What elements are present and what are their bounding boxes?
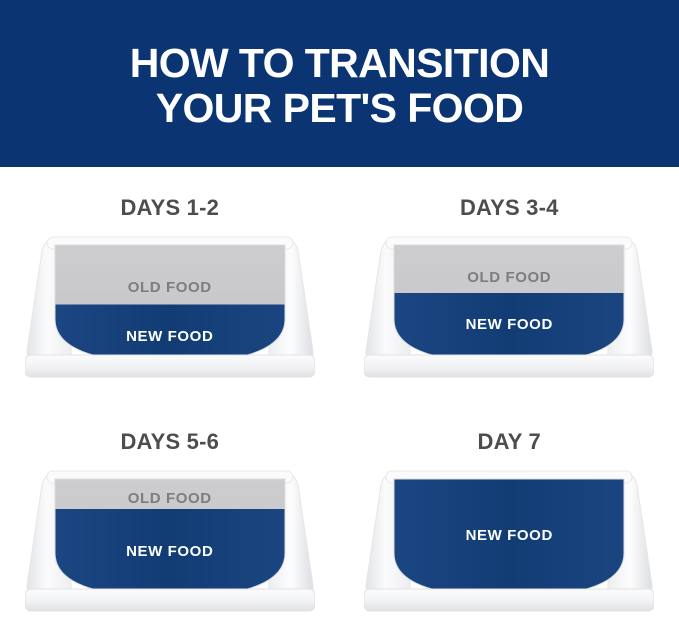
transition-stage-grid: DAYS 1-2 — [0, 167, 679, 634]
food-bowl: OLD FOOD NEW FOOD — [364, 231, 654, 391]
food-bowl: OLD FOOD NEW FOOD — [25, 231, 315, 391]
panel-label: DAYS 3-4 — [460, 195, 559, 221]
food-bowl-illustration — [364, 231, 654, 391]
page-title: HOW TO TRANSITION YOUR PET'S FOOD — [130, 41, 550, 130]
transition-panel-days-5-6: DAYS 5-6 — [0, 401, 340, 634]
transition-panel-days-3-4: DAYS 3-4 — [340, 167, 679, 401]
panel-label: DAYS 5-6 — [120, 429, 219, 455]
food-bowl-illustration — [364, 465, 654, 625]
panel-label: DAYS 1-2 — [120, 195, 219, 221]
food-bowl: NEW FOOD — [364, 465, 654, 625]
transition-panel-day-7: DAY 7 — [340, 401, 679, 634]
food-bowl-illustration — [25, 465, 315, 625]
food-bowl-illustration — [25, 231, 315, 391]
header-banner: HOW TO TRANSITION YOUR PET'S FOOD — [0, 0, 679, 167]
transition-panel-days-1-2: DAYS 1-2 — [0, 167, 340, 401]
food-bowl: OLD FOOD NEW FOOD — [25, 465, 315, 625]
panel-label: DAY 7 — [478, 429, 541, 455]
